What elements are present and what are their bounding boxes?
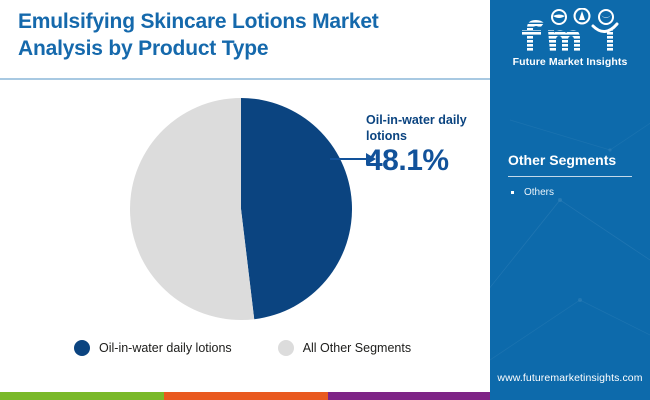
- pie-slice-oil-in-water-daily-lotions: [241, 98, 352, 319]
- legend-label: All Other Segments: [303, 341, 411, 355]
- logo-tagline: Future Market Insights: [490, 56, 650, 68]
- other-segments-divider: [508, 176, 632, 178]
- list-item: Others: [508, 185, 634, 200]
- legend-label: Oil-in-water daily lotions: [99, 341, 232, 355]
- legend-swatch-icon: [74, 340, 90, 356]
- list-item-label: Others: [524, 187, 554, 198]
- website-url[interactable]: www.futuremarketinsights.com: [490, 372, 650, 384]
- callout-value: 48.1%: [366, 146, 492, 176]
- other-segments-block: Other Segments Others: [508, 152, 634, 200]
- pie-chart-svg: [130, 98, 352, 320]
- chart-area: Emulsifying Skincare Lotions Market Anal…: [0, 0, 490, 392]
- page-title: Emulsifying Skincare Lotions Market Anal…: [18, 8, 468, 63]
- bottom-color-bar: [0, 392, 650, 400]
- title-divider: [0, 78, 490, 80]
- title-block: Emulsifying Skincare Lotions Market Anal…: [18, 8, 468, 63]
- fmi-logo-icon: [507, 8, 633, 54]
- other-segments-heading: Other Segments: [508, 152, 634, 169]
- bullet-icon: [511, 191, 514, 194]
- legend-item-all-other-segments[interactable]: All Other Segments: [278, 340, 411, 356]
- bar-segment-orange: [164, 392, 328, 400]
- pie-chart: [130, 98, 352, 320]
- bar-segment-purple: [328, 392, 490, 400]
- bar-segment-green: [0, 392, 164, 400]
- other-segments-list: Others: [508, 185, 634, 200]
- bar-segment-blue: [490, 392, 650, 400]
- callout-oil-in-water: Oil-in-water daily lotions 48.1%: [366, 112, 492, 176]
- brand-panel: Future Market Insights Other Segments Ot…: [490, 0, 650, 400]
- chart-legend: Oil-in-water daily lotions All Other Seg…: [74, 340, 411, 356]
- fmi-logo: Future Market Insights: [490, 8, 650, 68]
- legend-item-oil-in-water-daily-lotions[interactable]: Oil-in-water daily lotions: [74, 340, 232, 356]
- callout-label: Oil-in-water daily lotions: [366, 112, 492, 145]
- pie-slice-all-other-segments: [130, 98, 254, 320]
- legend-swatch-icon: [278, 340, 294, 356]
- infographic-root: Emulsifying Skincare Lotions Market Anal…: [0, 0, 650, 400]
